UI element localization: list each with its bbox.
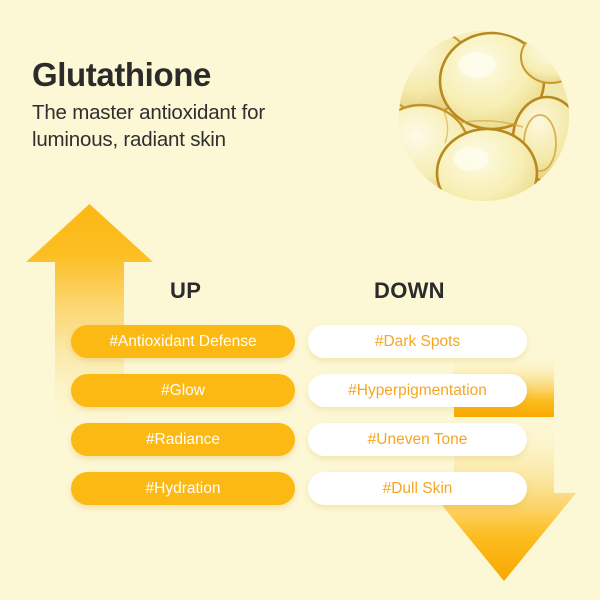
concern-pill-down: #Dull Skin: [308, 472, 527, 505]
column-heading-down: DOWN: [374, 278, 445, 304]
page-title: Glutathione: [32, 58, 362, 93]
benefit-pill-up: #Antioxidant Defense: [71, 325, 295, 358]
benefit-pill-up: #Hydration: [71, 472, 295, 505]
concern-pill-down: #Dark Spots: [308, 325, 527, 358]
subtitle-line-2: luminous, radiant skin: [32, 128, 226, 151]
concern-pill-down: #Hyperpigmentation: [308, 374, 527, 407]
subtitle-line-1: The master antioxidant for: [32, 101, 265, 124]
concern-pill-down: #Uneven Tone: [308, 423, 527, 456]
benefit-pill-up: #Glow: [71, 374, 295, 407]
page-subtitle: The master antioxidant for luminous, rad…: [32, 99, 362, 154]
header-block: Glutathione The master antioxidant for l…: [32, 58, 362, 153]
benefit-pill-up: #Radiance: [71, 423, 295, 456]
softgel-capsules-photo: [399, 31, 569, 201]
column-heading-up: UP: [170, 278, 201, 304]
glutathione-infographic: Glutathione The master antioxidant for l…: [0, 0, 600, 600]
